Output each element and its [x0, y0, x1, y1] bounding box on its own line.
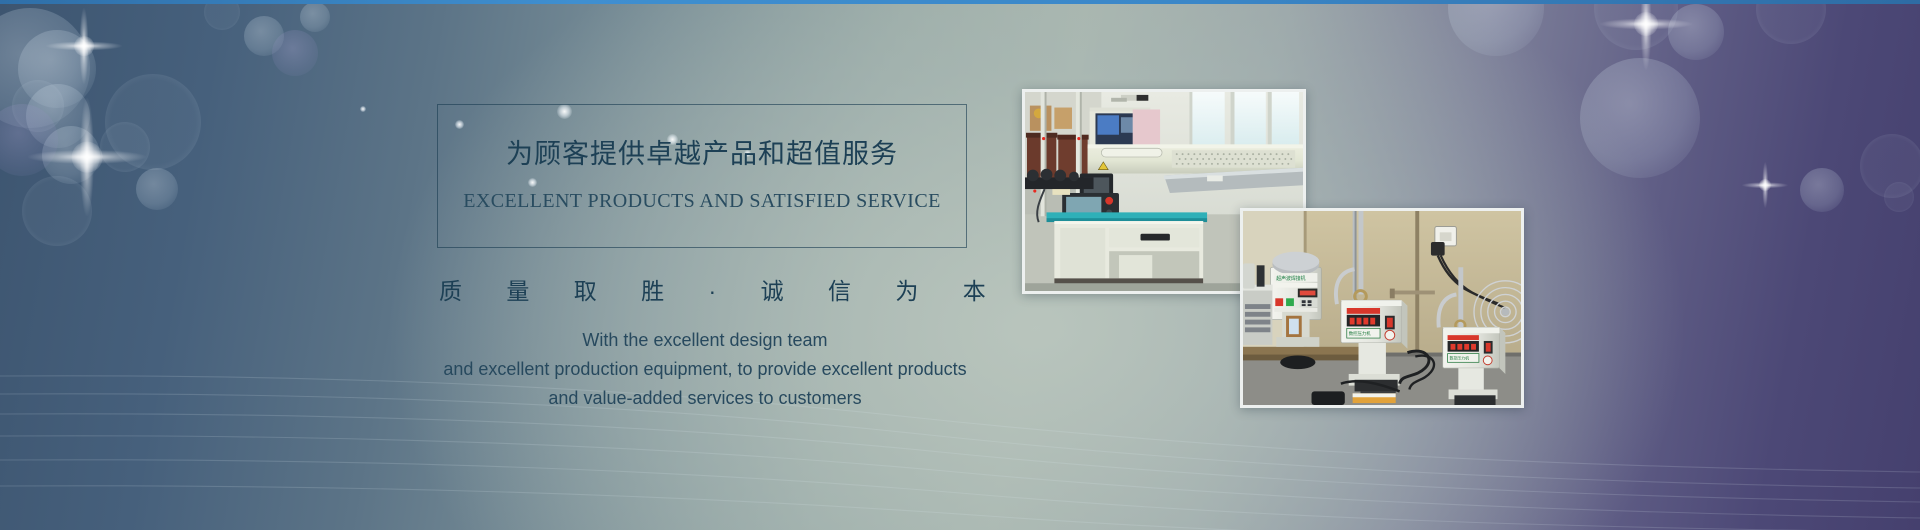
svg-text:数控压力机: 数控压力机	[1450, 355, 1470, 360]
headline-english: EXCELLENT PRODUCTS AND SATISFIED SERVICE	[437, 190, 967, 213]
svg-text:超声波焊接机: 超声波焊接机	[1276, 275, 1305, 282]
bokeh-circle	[1756, 0, 1826, 44]
headline-chinese: 为顾客提供卓越产品和超值服务	[437, 132, 967, 171]
photo-press-machines: 超声波焊接机	[1240, 208, 1524, 408]
sparkle-icon	[1742, 162, 1788, 208]
bokeh-circle	[1668, 4, 1724, 60]
svg-text:数控压力机: 数控压力机	[1349, 330, 1372, 337]
headline-frame	[437, 104, 967, 248]
bokeh-circle	[1884, 182, 1914, 212]
bokeh-circle	[1594, 0, 1678, 50]
slogan-english: With the excellent design team and excel…	[330, 326, 1080, 413]
copy-block: 为顾客提供卓越产品和超值服务 EXCELLENT PRODUCTS AND SA…	[0, 0, 1060, 530]
slogan-line: and value-added services to customers	[330, 384, 1080, 413]
promo-banner: 为顾客提供卓越产品和超值服务 EXCELLENT PRODUCTS AND SA…	[0, 0, 1920, 530]
bokeh-circle	[1448, 0, 1544, 56]
bokeh-circle	[1860, 134, 1920, 198]
slogan-line: and excellent production equipment, to p…	[330, 355, 1080, 384]
press-photo-illustration: 超声波焊接机	[1243, 211, 1521, 405]
bokeh-circle	[1800, 168, 1844, 212]
bokeh-circle	[1580, 58, 1700, 178]
top-accent-strip	[0, 0, 1920, 4]
slogan-chinese: 质 量 取 胜 · 诚 信 为 本	[420, 272, 990, 306]
slogan-line: With the excellent design team	[330, 326, 1080, 355]
sparkle-icon	[1600, 0, 1692, 70]
